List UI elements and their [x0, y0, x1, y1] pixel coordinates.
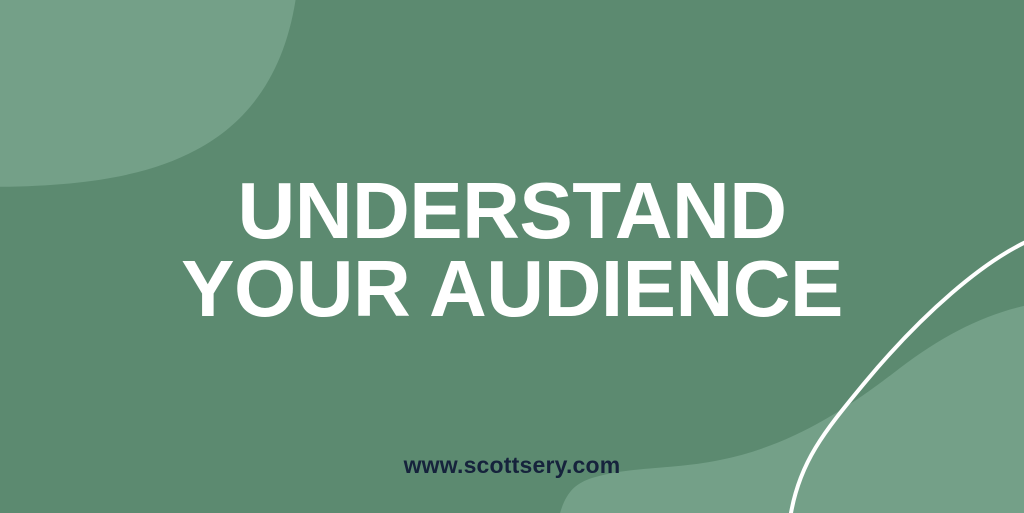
headline-line-2: YOUR AUDIENCE — [0, 250, 1024, 328]
banner-canvas: UNDERSTAND YOUR AUDIENCE www.scottsery.c… — [0, 0, 1024, 513]
content-layer: UNDERSTAND YOUR AUDIENCE www.scottsery.c… — [0, 0, 1024, 513]
page-title: UNDERSTAND YOUR AUDIENCE — [0, 172, 1024, 328]
headline-line-1: UNDERSTAND — [0, 172, 1024, 250]
website-url[interactable]: www.scottsery.com — [0, 452, 1024, 479]
